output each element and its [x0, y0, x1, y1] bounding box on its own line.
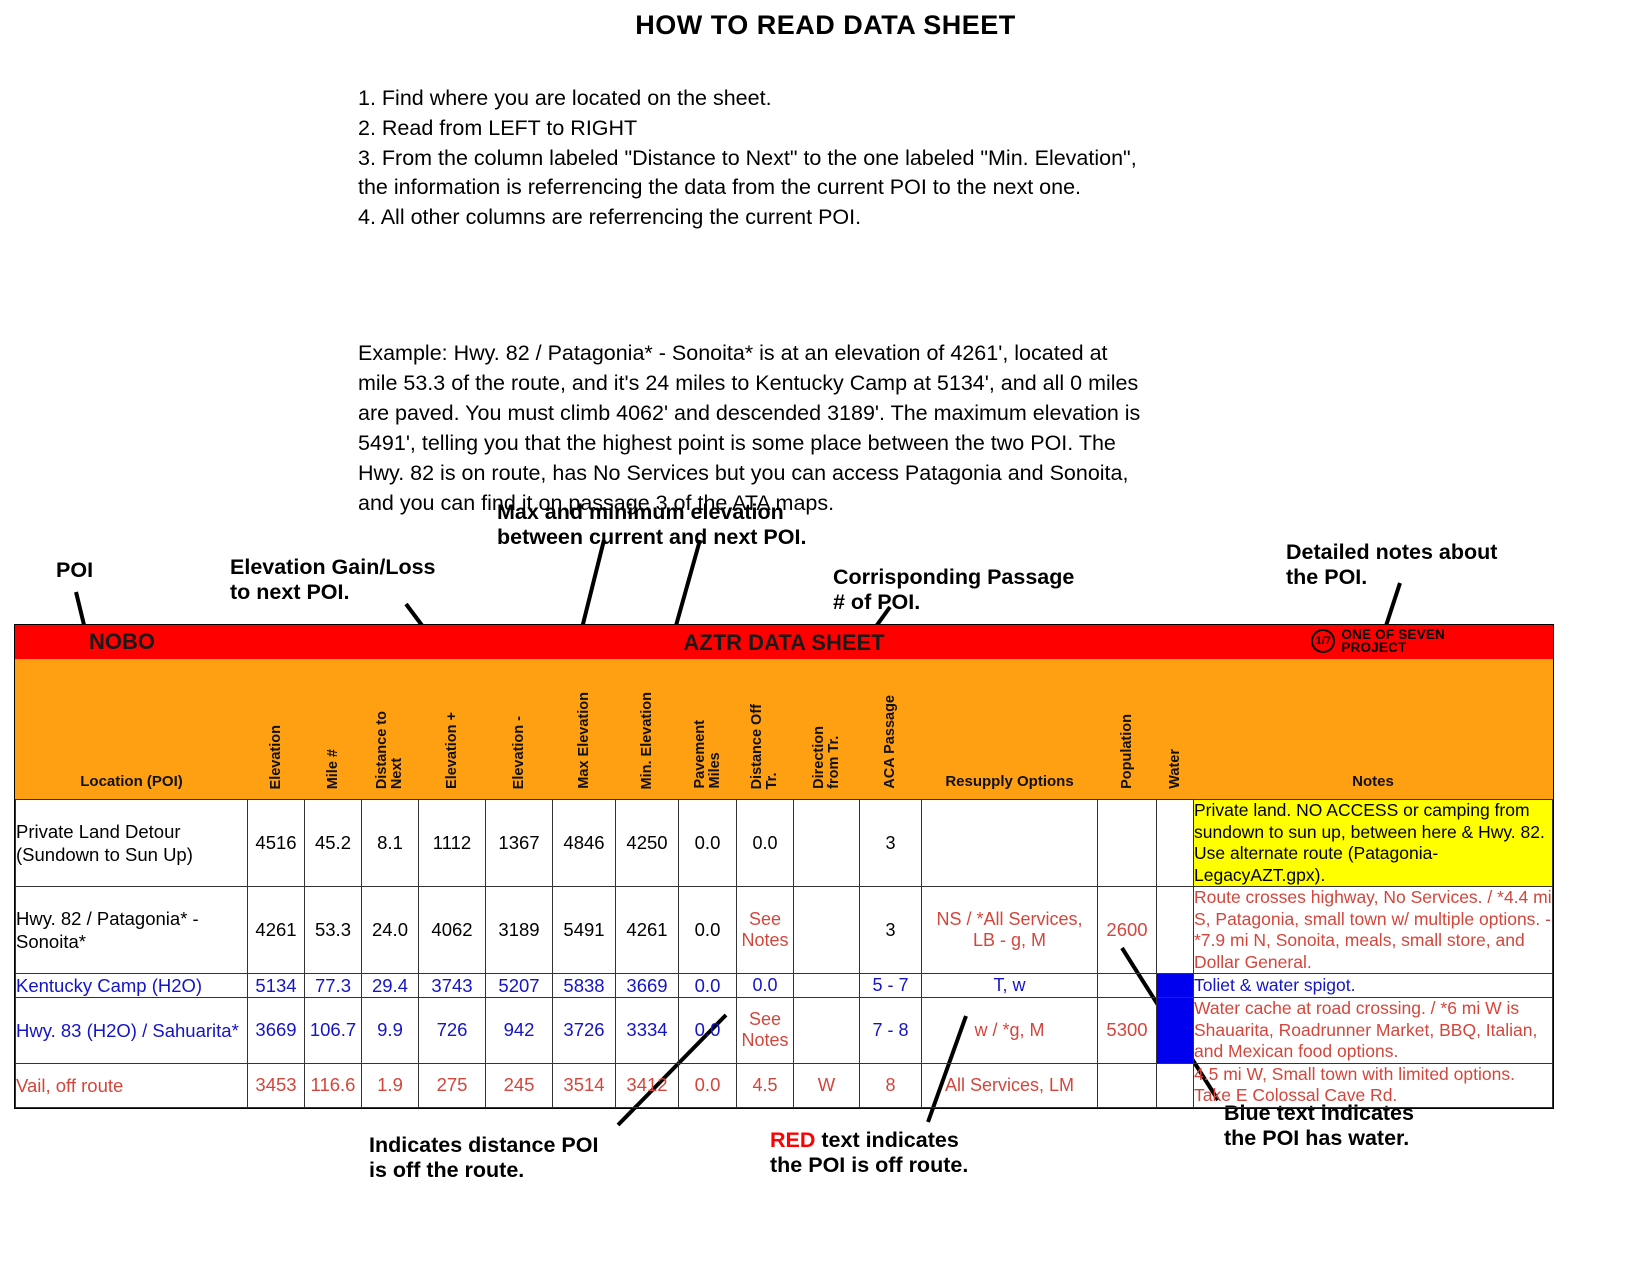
- instruction-step-1: 1. Find where you are located on the she…: [358, 84, 1148, 113]
- cell-elevation_minus: 5207: [486, 974, 553, 998]
- cell-min_elevation: 3412: [616, 1063, 679, 1107]
- col-header-water-label: Water: [1168, 749, 1183, 789]
- cell-location: Kentucky Camp (H2O): [16, 974, 248, 998]
- table-header-row: Location (POI) Elevation Mile # Distance…: [16, 660, 1553, 800]
- col-header-location: Location (POI): [16, 660, 248, 800]
- col-header-notes-label: Notes: [1352, 773, 1394, 790]
- cell-max_elevation: 3514: [553, 1063, 616, 1107]
- cell-resupply: All Services, LM: [922, 1063, 1098, 1107]
- table-row[interactable]: Hwy. 83 (H2O) / Sahuarita*3669106.79.972…: [16, 998, 1553, 1064]
- col-header-aca-passage: ACA Passage: [860, 660, 922, 800]
- cell-mile: 53.3: [305, 887, 362, 974]
- instruction-step-2: 2. Read from LEFT to RIGHT: [358, 114, 1148, 143]
- sheet-banner: NOBO AZTR DATA SHEET 1/7 ONE OF SEVEN PR…: [15, 625, 1553, 659]
- callout-distance-off-route: Indicates distance POI is off the route.: [369, 1133, 598, 1183]
- table-row[interactable]: Vail, off route3453116.61.92752453514341…: [16, 1063, 1553, 1107]
- cell-water: [1157, 974, 1194, 998]
- cell-mile: 45.2: [305, 800, 362, 887]
- col-header-population: Population: [1098, 660, 1157, 800]
- cell-population: 2600: [1098, 887, 1157, 974]
- cell-min_elevation: 4261: [616, 887, 679, 974]
- col-header-pavement-miles: Pavement Miles: [679, 660, 737, 800]
- cell-elevation_plus: 275: [419, 1063, 486, 1107]
- instructions-list: 1. Find where you are located on the she…: [358, 84, 1148, 233]
- cell-distance_off_tr: 4.5: [737, 1063, 794, 1107]
- cell-distance_to_next: 29.4: [362, 974, 419, 998]
- col-header-elevation-plus: Elevation +: [419, 660, 486, 800]
- cell-aca_passage: 8: [860, 1063, 922, 1107]
- col-header-max-elevation: Max Elevation: [553, 660, 616, 800]
- cell-aca_passage: 5 - 7: [860, 974, 922, 998]
- cell-aca_passage: 3: [860, 800, 922, 887]
- col-header-resupply-label: Resupply Options: [945, 773, 1073, 790]
- col-header-distance-off-tr-label: Distance Off Tr.: [750, 704, 780, 789]
- cell-direction_from_tr: [794, 974, 860, 998]
- cell-elevation_plus: 4062: [419, 887, 486, 974]
- cell-min_elevation: 4250: [616, 800, 679, 887]
- cell-elevation: 4261: [248, 887, 305, 974]
- cell-location: Vail, off route: [16, 1063, 248, 1107]
- cell-location: Hwy. 83 (H2O) / Sahuarita*: [16, 998, 248, 1064]
- cell-distance_to_next: 8.1: [362, 800, 419, 887]
- cell-distance_off_tr: 0.0: [737, 974, 794, 998]
- cell-elevation: 5134: [248, 974, 305, 998]
- cell-max_elevation: 5491: [553, 887, 616, 974]
- cell-pavement_miles: 0.0: [679, 998, 737, 1064]
- cell-mile: 106.7: [305, 998, 362, 1064]
- cell-water: [1157, 998, 1194, 1064]
- cell-distance_off_tr: 0.0: [737, 800, 794, 887]
- col-header-distance-to-next-label: Distance to Next: [375, 711, 405, 789]
- col-header-max-elevation-label: Max Elevation: [577, 692, 592, 789]
- col-header-mile-label: Mile #: [326, 749, 341, 789]
- example-paragraph: Example: Hwy. 82 / Patagonia* - Sonoita*…: [358, 338, 1148, 518]
- cell-aca_passage: 7 - 8: [860, 998, 922, 1064]
- col-header-notes: Notes: [1194, 660, 1553, 800]
- cell-pavement_miles: 0.0: [679, 1063, 737, 1107]
- cell-elevation_minus: 1367: [486, 800, 553, 887]
- col-header-pavement-miles-label: Pavement Miles: [693, 720, 723, 789]
- col-header-elevation-minus: Elevation -: [486, 660, 553, 800]
- aztr-data-sheet: NOBO AZTR DATA SHEET 1/7 ONE OF SEVEN PR…: [14, 624, 1554, 1109]
- cell-resupply: [922, 800, 1098, 887]
- cell-notes: Water cache at road crossing. / *6 mi W …: [1194, 998, 1553, 1064]
- col-header-elevation: Elevation: [248, 660, 305, 800]
- cell-notes: Private land. NO ACCESS or camping from …: [1194, 800, 1553, 887]
- cell-direction_from_tr: W: [794, 1063, 860, 1107]
- cell-aca_passage: 3: [860, 887, 922, 974]
- cell-min_elevation: 3334: [616, 998, 679, 1064]
- col-header-min-elevation: Min. Elevation: [616, 660, 679, 800]
- callout-corresponding-passage: Corrisponding Passage # of POI.: [833, 565, 1074, 615]
- callout-poi: POI: [56, 558, 93, 583]
- callout-blue-text: Blue text indicates the POI has water.: [1224, 1101, 1414, 1151]
- cell-elevation: 4516: [248, 800, 305, 887]
- cell-direction_from_tr: [794, 998, 860, 1064]
- col-header-aca-passage-label: ACA Passage: [883, 695, 898, 789]
- cell-elevation_plus: 3743: [419, 974, 486, 998]
- cell-location: Private Land Detour (Sundown to Sun Up): [16, 800, 248, 887]
- one-seven-circle-icon: 1/7: [1311, 629, 1335, 653]
- logo-line-2: PROJECT: [1341, 641, 1445, 654]
- table-row[interactable]: Private Land Detour (Sundown to Sun Up)4…: [16, 800, 1553, 887]
- page-title: HOW TO READ DATA SHEET: [0, 10, 1651, 41]
- cell-distance_to_next: 1.9: [362, 1063, 419, 1107]
- cell-distance_to_next: 9.9: [362, 998, 419, 1064]
- callout-red-word: RED: [770, 1128, 815, 1152]
- cell-pavement_miles: 0.0: [679, 974, 737, 998]
- cell-distance_to_next: 24.0: [362, 887, 419, 974]
- col-header-water: Water: [1157, 660, 1194, 800]
- cell-water: [1157, 1063, 1194, 1107]
- cell-population: 5300: [1098, 998, 1157, 1064]
- cell-direction_from_tr: [794, 887, 860, 974]
- cell-elevation_minus: 942: [486, 998, 553, 1064]
- cell-elevation: 3669: [248, 998, 305, 1064]
- callout-max-min-elevation: Max and minimum elevation between curren…: [497, 500, 806, 550]
- cell-distance_off_tr: See Notes: [737, 887, 794, 974]
- cell-resupply: NS / *All Services, LB - g, M: [922, 887, 1098, 974]
- cell-mile: 116.6: [305, 1063, 362, 1107]
- cell-elevation_plus: 1112: [419, 800, 486, 887]
- cell-population: [1098, 974, 1157, 998]
- col-header-elevation-plus-label: Elevation +: [445, 712, 460, 789]
- cell-resupply: w / *g, M: [922, 998, 1098, 1064]
- col-header-direction-from-tr: Direction from Tr.: [794, 660, 860, 800]
- col-header-elevation-minus-label: Elevation -: [512, 716, 527, 789]
- col-header-distance-to-next: Distance to Next: [362, 660, 419, 800]
- cell-notes: Route crosses highway, No Services. / *4…: [1194, 887, 1553, 974]
- cell-notes: 4.5 mi W, Small town with limited option…: [1194, 1063, 1553, 1107]
- cell-elevation: 3453: [248, 1063, 305, 1107]
- data-table: Location (POI) Elevation Mile # Distance…: [15, 659, 1553, 1108]
- cell-max_elevation: 4846: [553, 800, 616, 887]
- cell-population: [1098, 1063, 1157, 1107]
- col-header-min-elevation-label: Min. Elevation: [640, 692, 655, 790]
- cell-water: [1157, 887, 1194, 974]
- cell-notes: Toliet & water spigot.: [1194, 974, 1553, 998]
- callout-detailed-notes: Detailed notes about the POI.: [1286, 540, 1497, 590]
- callout-red-text: RED text indicates the POI is off route.: [770, 1128, 968, 1178]
- cell-mile: 77.3: [305, 974, 362, 998]
- cell-population: [1098, 800, 1157, 887]
- col-header-direction-from-tr-label: Direction from Tr.: [812, 726, 842, 789]
- cell-elevation_minus: 245: [486, 1063, 553, 1107]
- col-header-resupply: Resupply Options: [922, 660, 1098, 800]
- cell-max_elevation: 5838: [553, 974, 616, 998]
- cell-direction_from_tr: [794, 800, 860, 887]
- cell-max_elevation: 3726: [553, 998, 616, 1064]
- cell-resupply: T, w: [922, 974, 1098, 998]
- table-row[interactable]: Hwy. 82 / Patagonia* - Sonoita*426153.32…: [16, 887, 1553, 974]
- col-header-location-label: Location (POI): [80, 773, 183, 790]
- col-header-distance-off-tr: Distance Off Tr.: [737, 660, 794, 800]
- cell-distance_off_tr: See Notes: [737, 998, 794, 1064]
- logo-text: ONE OF SEVEN PROJECT: [1341, 628, 1445, 654]
- instruction-step-4: 4. All other columns are referrencing th…: [358, 203, 1148, 232]
- cell-water: [1157, 800, 1194, 887]
- cell-location: Hwy. 82 / Patagonia* - Sonoita*: [16, 887, 248, 974]
- cell-pavement_miles: 0.0: [679, 800, 737, 887]
- cell-elevation_plus: 726: [419, 998, 486, 1064]
- table-row[interactable]: Kentucky Camp (H2O)513477.329.4374352075…: [16, 974, 1553, 998]
- col-header-elevation-label: Elevation: [269, 725, 284, 789]
- cell-min_elevation: 3669: [616, 974, 679, 998]
- cell-pavement_miles: 0.0: [679, 887, 737, 974]
- callout-elevation-gain-loss: Elevation Gain/Loss to next POI.: [230, 555, 436, 605]
- col-header-mile: Mile #: [305, 660, 362, 800]
- one-of-seven-project-logo: 1/7 ONE OF SEVEN PROJECT: [1311, 628, 1445, 654]
- instruction-step-3: 3. From the column labeled "Distance to …: [358, 144, 1148, 202]
- table-body: Private Land Detour (Sundown to Sun Up)4…: [16, 800, 1553, 1108]
- col-header-population-label: Population: [1120, 714, 1135, 789]
- cell-elevation_minus: 3189: [486, 887, 553, 974]
